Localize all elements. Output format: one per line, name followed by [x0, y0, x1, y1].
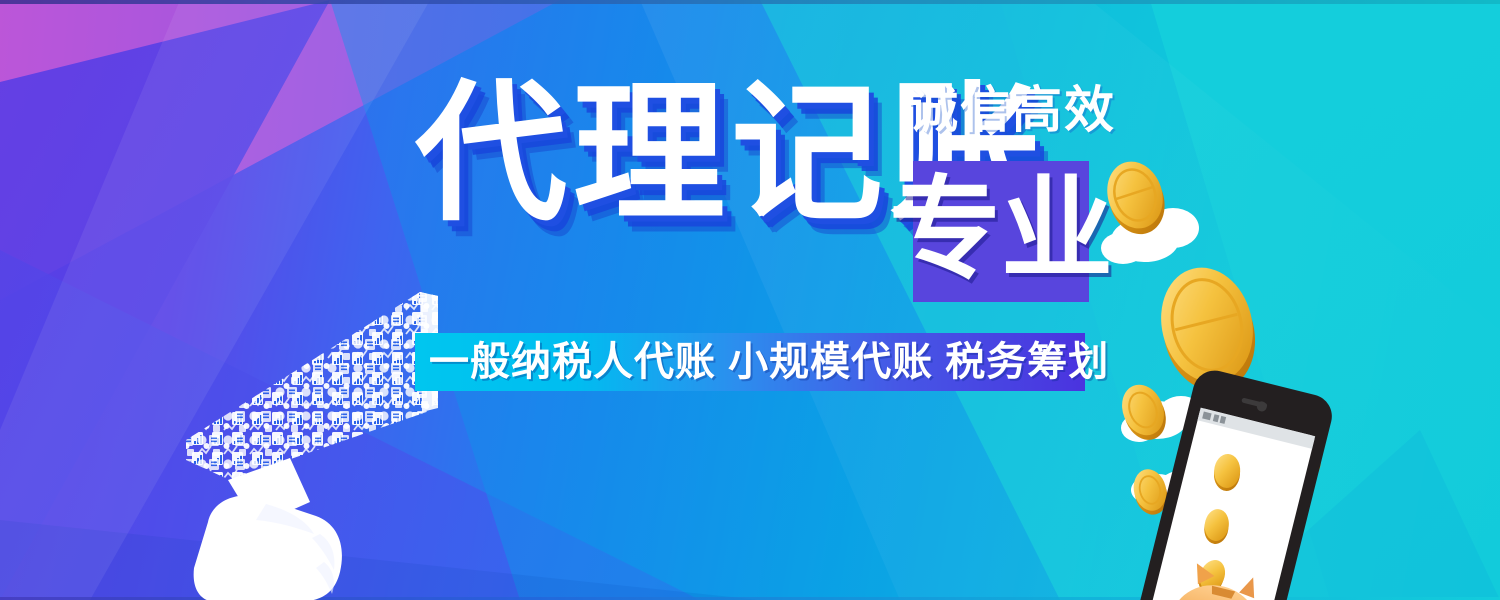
status-badge: 专业 [913, 161, 1089, 302]
advertising-banner: 代理记账 诚信高效 专业 一般纳税人代账 小规模代账 税务筹划 [0, 0, 1500, 600]
badge-label: 专业 [889, 174, 1113, 286]
services-bar: 一般纳税人代账 小规模代账 税务筹划 [415, 333, 1085, 391]
slogan-text: 诚信高效 [908, 82, 1116, 138]
services-bar-label: 一般纳税人代账 小规模代账 税务筹划 [429, 342, 1109, 382]
phone-and-coins-illustration [1095, 120, 1425, 600]
top-edge-line [0, 0, 1500, 4]
